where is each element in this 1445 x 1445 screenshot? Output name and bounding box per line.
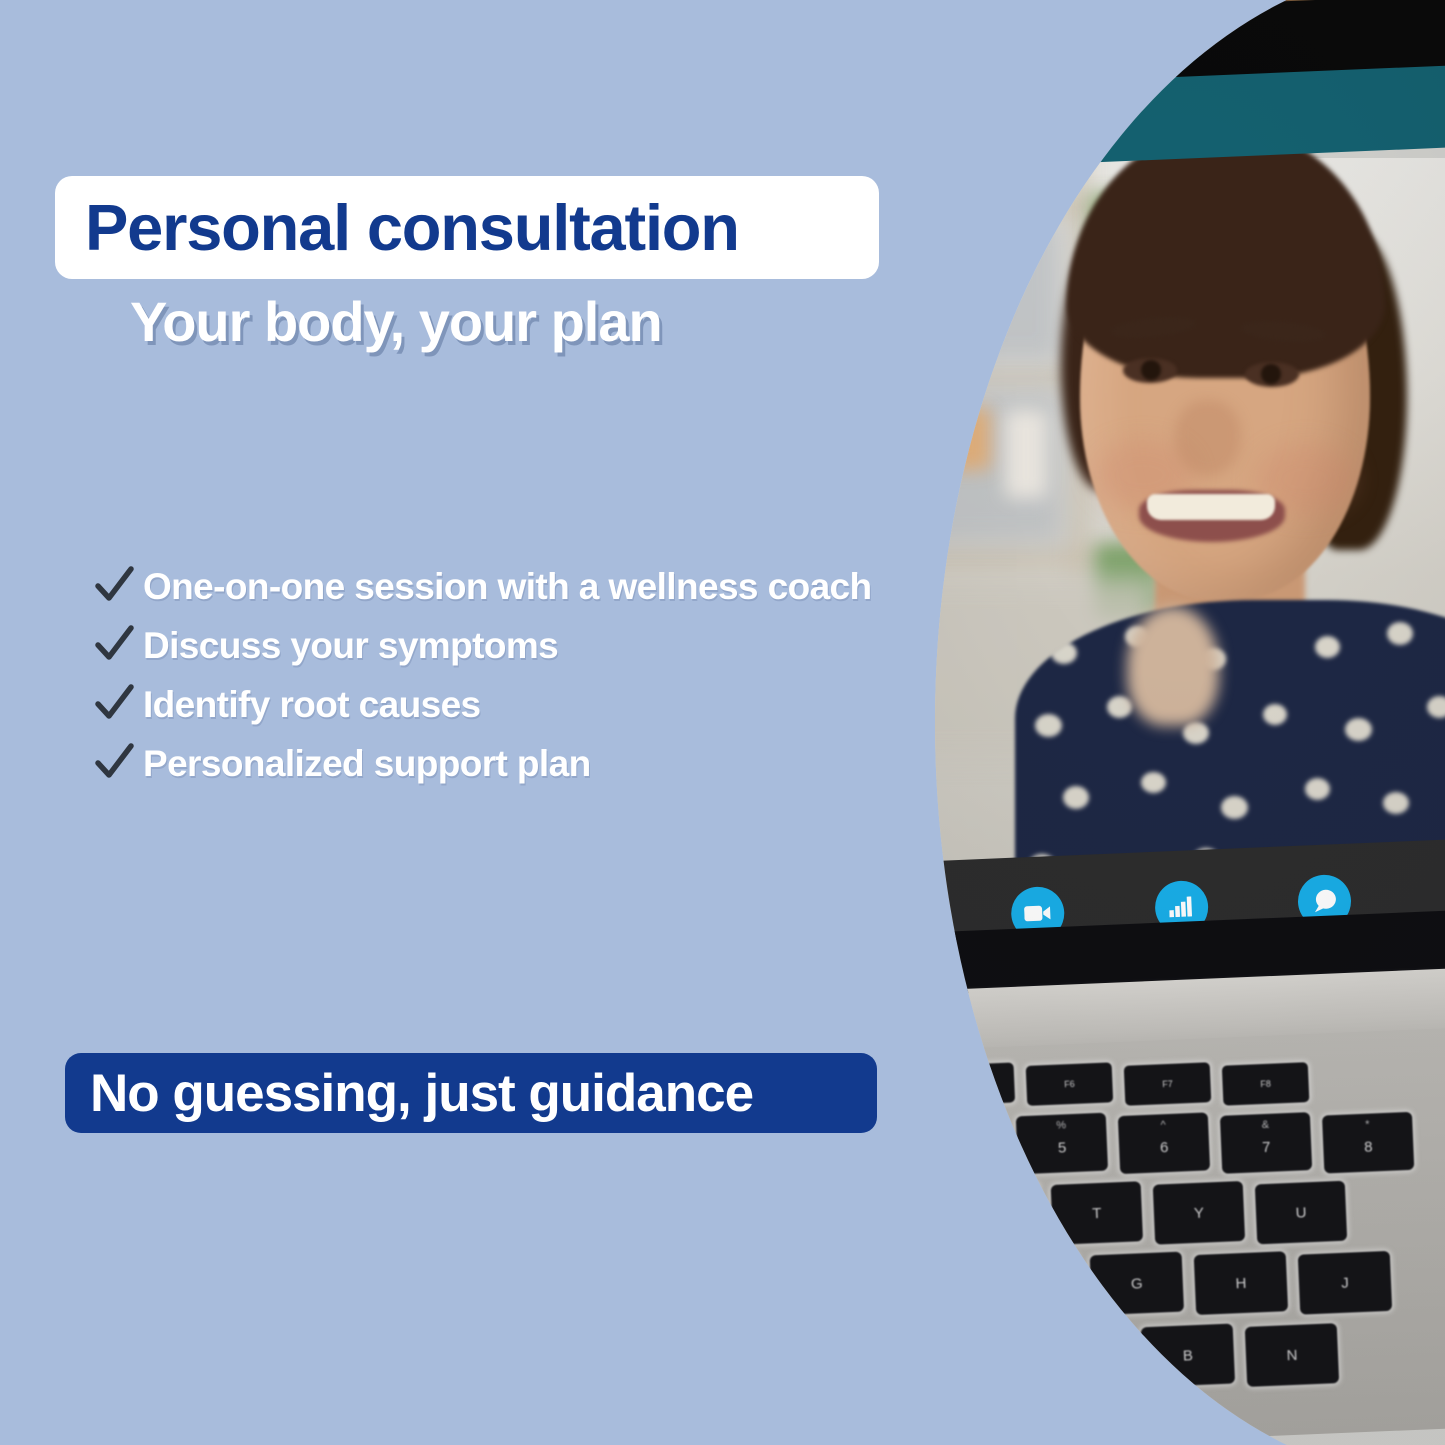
check-icon — [92, 622, 136, 666]
tagline-badge: No guessing, just guidance — [65, 1053, 877, 1133]
list-item-label: One-on-one session with a wellness coach — [143, 565, 872, 609]
list-item: Discuss your symptoms — [92, 624, 1052, 669]
video-camera-icon — [1024, 903, 1052, 923]
check-icon — [92, 563, 136, 607]
laptop-keyboard: F4 F5 F6 F7 F8 #3 $4 %5 ^6 &7 *8 E R T Y… — [855, 1022, 1445, 1445]
title-badge: Personal consultation — [55, 176, 879, 279]
content-column: Personal consultation Your body, your pl… — [0, 0, 930, 1445]
list-item: Identify root causes — [92, 683, 1052, 728]
check-icon — [92, 740, 136, 784]
page-title: Personal consultation — [55, 195, 739, 260]
check-icon — [92, 681, 136, 725]
list-item: One-on-one session with a wellness coach — [92, 565, 1052, 610]
benefits-list: One-on-one session with a wellness coach… — [92, 565, 1052, 801]
page-subtitle: Your body, your plan — [130, 294, 662, 350]
promo-card: F4 F5 F6 F7 F8 #3 $4 %5 ^6 &7 *8 E R T Y… — [0, 0, 1445, 1445]
list-item-label: Identify root causes — [143, 683, 481, 727]
list-item-label: Discuss your symptoms — [143, 624, 558, 668]
signal-bars-icon — [1169, 896, 1194, 917]
list-item-label: Personalized support plan — [143, 742, 591, 786]
list-item: Personalized support plan — [92, 742, 1052, 787]
tagline-text: No guessing, just guidance — [65, 1067, 753, 1120]
chat-bubble-icon — [1311, 888, 1338, 913]
